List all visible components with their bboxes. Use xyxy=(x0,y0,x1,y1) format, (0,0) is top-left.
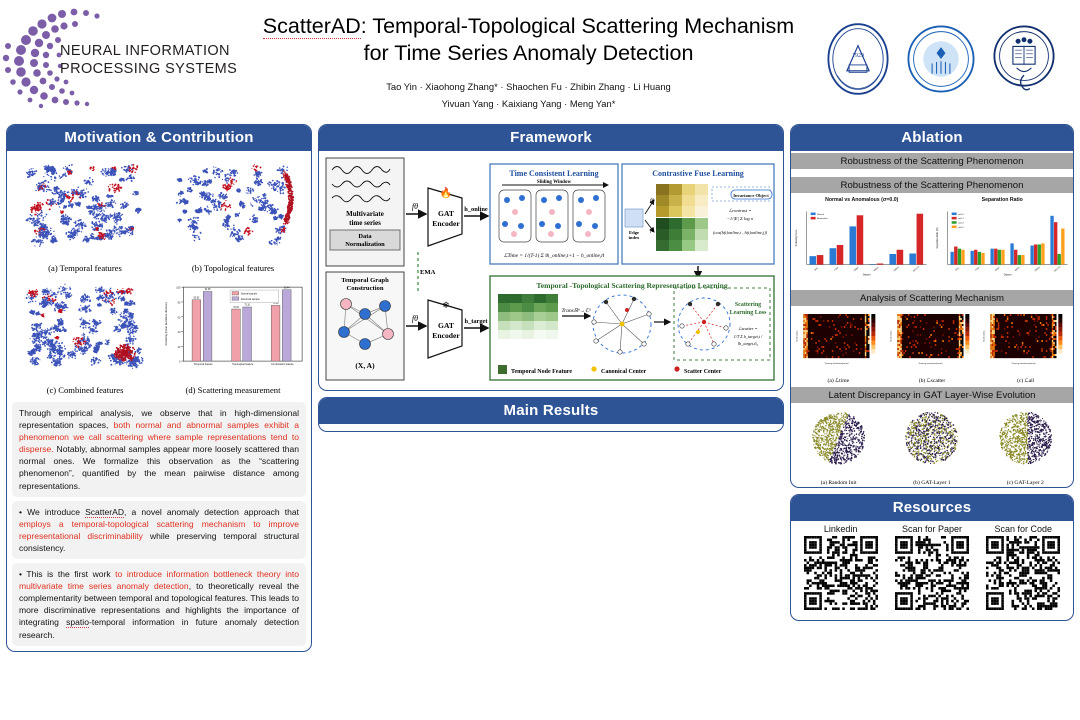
tsne-row: (a) Random Init (b) GAT-Layer 1 (c) GAT-… xyxy=(791,406,1073,487)
page-title: ScatterAD: Temporal-Topological Scatteri… xyxy=(255,13,802,67)
tsne-gat-layer-2: (c) GAT-Layer 2 xyxy=(980,408,1071,486)
heatmap-b-caption: (b) ℒscatter xyxy=(887,377,978,384)
qr-code-icon[interactable] xyxy=(986,536,1060,610)
panel-ablation-body: Robustness of the Scattering Phenomenon … xyxy=(791,153,1073,487)
resource-code[interactable]: Scan for Code xyxy=(986,524,1060,615)
poster-header: NEURAL INFORMATION PROCESSING SYSTEMS Sc… xyxy=(0,0,1080,118)
title-line-1-rest: : Temporal-Topological Scattering Mechan… xyxy=(361,14,794,38)
cp1-term: ScatterAD xyxy=(85,507,124,518)
chart-separation-ratio: Separation Ratio MSLPSMSWaTWADISWANGECCO… xyxy=(934,197,1072,286)
figure-c: (c) Combined features xyxy=(12,278,158,398)
author-list: Tao Yin · Xiaohong Zhang* · Shaochen Fu … xyxy=(255,78,802,112)
figure-a-caption: (a) Temporal features xyxy=(12,261,158,276)
heatmap-c-svg: Training iterations/periodNode index xyxy=(980,310,1071,372)
heatmap-a-svg: Training iterations/periodNode index xyxy=(793,310,884,372)
panel-ablation-title: Ablation xyxy=(791,125,1073,151)
motivation-figure-grid: (a) Temporal features (b) Topological fe… xyxy=(12,156,306,398)
middle-column: Framework Multivariate time series xyxy=(318,124,784,438)
panel-resources-title: Resources xyxy=(791,495,1073,521)
svg-text:1929: 1929 xyxy=(852,53,864,59)
panel-ablation: Ablation Robustness of the Scattering Ph… xyxy=(790,124,1074,488)
figure-b: (b) Topological features xyxy=(160,156,306,276)
panel-main-results-body: DatasetMetricOursS.T.T.G.MemtoDC.M.TCNiT… xyxy=(319,424,783,431)
figure-a: (a) Temporal features xyxy=(12,156,158,276)
resource-code-label: Scan for Code xyxy=(986,524,1060,534)
neurips-logo: NEURAL INFORMATION PROCESSING SYSTEMS xyxy=(0,0,255,118)
panel-framework: Framework Multivariate time series xyxy=(318,124,784,391)
panel-main-results-title: Main Results xyxy=(319,398,783,424)
mp1-text-2: Notably, abnormal samples appear more lo… xyxy=(19,444,299,490)
figure-d: 02040608010082.8394.08Temporal feature70… xyxy=(160,278,306,398)
cp1-text-1: • We introduce xyxy=(19,507,85,517)
figure-b-caption: (b) Topological features xyxy=(160,261,306,276)
title-block: ScatterAD: Temporal-Topological Scatteri… xyxy=(255,7,802,112)
heatmap-a-caption: (a) ℒtime xyxy=(793,377,884,384)
qr-code-icon[interactable] xyxy=(804,536,878,610)
cp2-term: spatio xyxy=(66,617,89,628)
neurips-wordmark: NEURAL INFORMATION PROCESSING SYSTEMS xyxy=(60,42,237,78)
resource-paper[interactable]: Scan for Paper xyxy=(895,524,969,615)
framework-diagram: Multivariate time series Data Normalizat… xyxy=(322,154,780,387)
chongqing-university-seal-icon: 1929 xyxy=(821,22,895,96)
heatmap-row: Training iterations/periodNode index (a)… xyxy=(791,309,1073,385)
panel-main-results: Main Results DatasetMetricOursS.T.T.G.Me… xyxy=(318,397,784,432)
tsne-topological-features-chart xyxy=(160,156,306,256)
scattering-measurement-bar-chart: 02040608010082.8394.08Temporal feature70… xyxy=(160,278,306,378)
university-of-oxford-seal-icon xyxy=(987,22,1061,96)
resource-paper-label: Scan for Paper xyxy=(895,524,969,534)
heatmap-c-caption: (c) ℒall xyxy=(980,377,1071,384)
panel-resources: Resources Linkedin Scan for Paper Scan f… xyxy=(790,494,1074,621)
heatmap-b: Training iterations/periodNode index (b)… xyxy=(887,310,978,384)
neurips-line-1: NEURAL INFORMATION xyxy=(60,42,237,60)
poster-root: NEURAL INFORMATION PROCESSING SYSTEMS Sc… xyxy=(0,0,1080,720)
tsne-0-svg xyxy=(793,408,884,474)
resource-linkedin-label: Linkedin xyxy=(804,524,878,534)
institution-logos: 1929 xyxy=(802,0,1080,118)
heatmap-b-svg: Training iterations/periodNode index xyxy=(887,310,978,372)
title-keyword: ScatterAD xyxy=(263,14,361,39)
right-column: Ablation Robustness of the Scattering Ph… xyxy=(790,124,1074,627)
tsne-2-svg xyxy=(980,408,1071,474)
resources-qr-row: Linkedin Scan for Paper Scan for Code xyxy=(791,521,1073,620)
tsne-random-init: (a) Random Init xyxy=(793,408,884,486)
cp2-text-1: • This is the first work xyxy=(19,569,115,579)
ablation-charts-row: Normal vs Anomalous (σ=0.0) MSLPSMSWaTWA… xyxy=(791,196,1073,288)
authors-line-2: Yivuan Yang · Kaixiang Yang · Meng Yan* xyxy=(255,95,802,112)
cp1-text-2: , a novel anomaly detection approach tha… xyxy=(124,507,299,517)
heatmap-a: Training iterations/periodNode index (a)… xyxy=(793,310,884,384)
tsne-2-caption: (c) GAT-Layer 2 xyxy=(980,479,1071,486)
heatmap-c: Training iterations/periodNode index (c)… xyxy=(980,310,1071,384)
panel-motivation-title: Motivation & Contribution xyxy=(7,125,311,151)
panel-framework-body: Multivariate time series Data Normalizat… xyxy=(319,151,783,390)
ablation-subhead-4: Latent Discrepancy in GAT Layer-Wise Evo… xyxy=(791,387,1073,403)
tsne-1-svg xyxy=(886,408,977,474)
chart-normal-vs-anomalous: Normal vs Anomalous (σ=0.0) MSLPSMSWaTWA… xyxy=(793,197,931,286)
framework-diagram-svg: Multivariate time series Data Normalizat… xyxy=(322,154,778,387)
chart-1-svg: MSLPSMSWaTWADISWANGECCODatasetScattering… xyxy=(793,203,931,281)
motivation-paragraph-1: Through empirical analysis, we observe t… xyxy=(12,402,306,497)
ablation-subhead-2: Robustness of the Scattering Phenomenon xyxy=(791,177,1073,193)
title-line-2: for Time Series Anomaly Detection xyxy=(255,40,802,67)
contribution-paragraph-1: • We introduce ScatterAD, a novel anomal… xyxy=(12,501,306,559)
tsne-gat-layer-1: (b) GAT-Layer 1 xyxy=(886,408,977,486)
figure-c-caption: (c) Combined features xyxy=(12,383,158,398)
tsne-0-caption: (a) Random Init xyxy=(793,479,884,486)
qr-code-icon[interactable] xyxy=(895,536,969,610)
figure-d-caption: (d) Scattering measurement xyxy=(160,383,306,398)
ablation-subhead-1: Robustness of the Scattering Phenomenon xyxy=(791,153,1073,169)
authors-line-1: Tao Yin · Xiaohong Zhang* · Shaochen Fu … xyxy=(255,78,802,95)
panel-framework-title: Framework xyxy=(319,125,783,151)
tsne-combined-features-chart xyxy=(12,278,158,378)
tsne-1-caption: (b) GAT-Layer 1 xyxy=(886,479,977,486)
left-column: Motivation & Contribution (a) Temporal f… xyxy=(6,124,312,658)
resource-linkedin[interactable]: Linkedin xyxy=(804,524,878,615)
panel-motivation: Motivation & Contribution (a) Temporal f… xyxy=(6,124,312,652)
panel-motivation-body: (a) Temporal features (b) Topological fe… xyxy=(7,151,311,651)
ablation-subhead-3: Analysis of Scattering Mechanism xyxy=(791,290,1073,306)
south-china-university-of-technology-seal-icon xyxy=(904,22,978,96)
chart-2-svg: MSLPSMSWaTWADISWANGECCODatasetSeparation… xyxy=(934,203,1072,281)
tsne-temporal-features-chart xyxy=(12,156,158,256)
neurips-line-2: PROCESSING SYSTEMS xyxy=(60,60,237,78)
contribution-paragraph-2: • This is the first work to introduce in… xyxy=(12,563,306,646)
ablation-table-wrap: VariationMSLPSMWADISWaT AFARAFARAFARAFAR… xyxy=(791,172,1073,175)
